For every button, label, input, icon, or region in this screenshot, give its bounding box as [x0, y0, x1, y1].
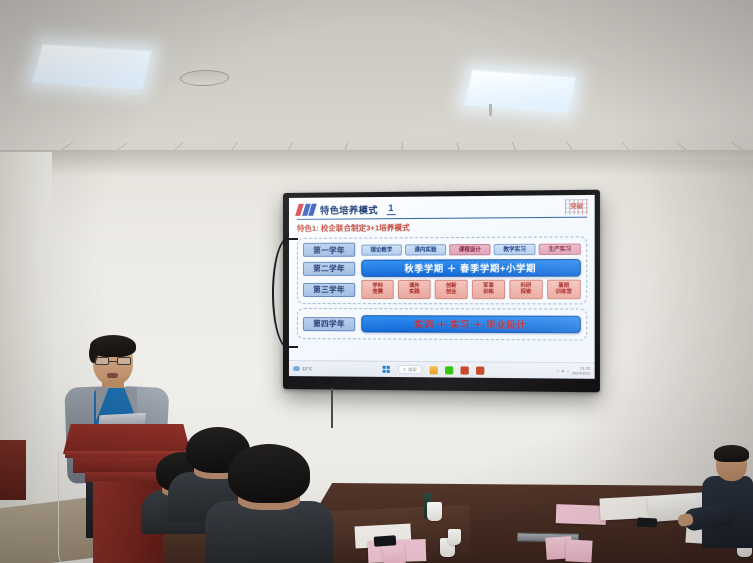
corner-watermark: 突破	[564, 197, 589, 217]
presentation-slide: 特色培养模式 1 突破 特色1: 校企联合制定3+1培养模式 第一学年	[289, 195, 595, 362]
podium-cable	[58, 452, 72, 563]
tag-innovation-entrepreneurship[interactable]: 创新 创业	[435, 280, 468, 299]
corner-watermark-text: 突破	[570, 204, 583, 210]
taskbar-weather-widget[interactable]: 12°C	[293, 366, 312, 371]
taskbar-search-box[interactable]: ⚲ 搜索	[398, 365, 422, 374]
powerpoint-icon-2[interactable]	[476, 366, 484, 374]
row-year-2: 第二学年 秋季学期 ＋ 春季学期+小学期	[303, 259, 581, 277]
name-tent-card	[382, 545, 406, 563]
tag-production-practice[interactable]: 生产实习	[539, 243, 581, 255]
year-3-tags: 学科 竞赛 课外 实践 创新 创业	[361, 280, 581, 300]
year-label-1: 第一学年	[303, 243, 355, 257]
year-label-4: 第四学年	[303, 317, 355, 331]
conference-room-photo: 特色培养模式 1 突破 特色1: 校企联合制定3+1培养模式 第一学年	[0, 0, 753, 563]
windows-taskbar[interactable]: 12°C ⚲ 搜索	[289, 360, 595, 379]
wall-mounted-tv[interactable]: 特色培养模式 1 突破 特色1: 校企联合制定3+1培养模式 第一学年	[283, 190, 600, 393]
row-year-1: 第一学年 理论教学 课内实验 课程设计 教学实习 生产实习	[303, 241, 581, 256]
capstone-bar[interactable]: 实训 ＋ 实习 ＋ 毕业设计	[361, 315, 581, 333]
left-wall-column	[0, 152, 52, 563]
smartphone	[374, 535, 397, 547]
year-label-2: 第二学年	[303, 261, 355, 275]
seated-attendee-right	[700, 448, 753, 563]
tag-line-2: 训练营	[556, 289, 572, 295]
institution-logo-icon	[297, 204, 315, 216]
podium-top	[63, 424, 191, 454]
tag-military-training[interactable]: 军事 训练	[472, 280, 506, 299]
tag-line-2: 探索	[521, 289, 532, 295]
taskbar-clock[interactable]: 11:32 2024/3/21	[572, 366, 591, 376]
row-year-3: 第三学年 学科 竞赛 课外 实践	[303, 280, 581, 300]
years-1-3-group: 第一学年 理论教学 课内实验 课程设计 教学实习 生产实习 第二学年	[297, 236, 587, 304]
paper-cup	[427, 502, 442, 521]
smartphone	[637, 517, 657, 527]
year-4-group: 第四学年 实训 ＋ 实习 ＋ 毕业设计	[297, 308, 587, 341]
paper-cup	[448, 529, 461, 545]
ceiling-light-left	[32, 44, 153, 90]
paper-document	[556, 504, 607, 525]
year-4-content: 实训 ＋ 实习 ＋ 毕业设计	[361, 315, 581, 333]
weather-temperature: 12°C	[302, 366, 312, 371]
chevron-up-icon[interactable]: ^	[557, 368, 559, 373]
presenter-hair	[90, 335, 136, 357]
year-label-3: 第三学年	[303, 282, 355, 296]
slide-subtitle: 特色1: 校企联合制定3+1培养模式	[297, 221, 587, 234]
year-1-tags: 理论教学 课内实验 课程设计 教学实习 生产实习	[361, 243, 581, 255]
network-icon[interactable]: ●	[562, 368, 565, 373]
tag-extracurricular-practice[interactable]: 课外 实践	[398, 280, 431, 299]
year-2-content: 秋季学期 ＋ 春季学期+小学期	[361, 259, 581, 277]
tag-teaching-practice[interactable]: 教学实习	[494, 243, 535, 254]
tag-line-2: 竞赛	[372, 289, 383, 295]
tv-bezel: 特色培养模式 1 突破 特色1: 校企联合制定3+1培养模式 第一学年	[283, 190, 600, 393]
header-rule	[401, 207, 587, 210]
tag-research-exploration[interactable]: 科研 探索	[509, 280, 543, 300]
slide-page-number: 1	[386, 203, 395, 215]
tag-theory-teaching[interactable]: 理论教学	[361, 244, 401, 255]
ceiling-vent	[178, 70, 230, 86]
semesters-bar[interactable]: 秋季学期 ＋ 春季学期+小学期	[361, 259, 581, 277]
ceiling-light-right	[464, 69, 577, 112]
ceiling	[0, 0, 753, 170]
powerpoint-icon-1[interactable]	[460, 366, 468, 374]
audience-member	[228, 444, 310, 536]
tv-power-cable	[272, 238, 298, 348]
presenter-mouth	[107, 373, 118, 378]
search-placeholder: 搜索	[408, 366, 417, 372]
tag-course-design[interactable]: 课程设计	[449, 243, 490, 254]
tag-discipline-competition[interactable]: 学科 竞赛	[361, 280, 394, 299]
name-tent-card	[565, 539, 592, 562]
tag-line-2: 实践	[409, 289, 420, 295]
tv-screen[interactable]: 特色培养模式 1 突破 特色1: 校企联合制定3+1培养模式 第一学年	[289, 195, 595, 379]
wechat-icon[interactable]	[445, 366, 453, 374]
slide-header: 特色培养模式 1 突破	[297, 200, 587, 220]
file-explorer-icon[interactable]	[429, 366, 437, 374]
taskbar-center-group: ⚲ 搜索	[316, 364, 553, 375]
attendee-hair	[714, 445, 749, 462]
chair-back-left	[0, 440, 26, 500]
windows-start-icon[interactable]	[383, 365, 391, 373]
ceiling-hook	[489, 104, 492, 116]
search-icon: ⚲	[403, 367, 406, 372]
cloud-icon	[293, 366, 300, 371]
clock-date: 2024/3/21	[572, 371, 591, 376]
tag-summer-camp[interactable]: 暑期 训练营	[547, 280, 581, 300]
eyeglasses-icon	[95, 357, 131, 365]
row-year-4: 第四学年 实训 ＋ 实习 ＋ 毕业设计	[303, 315, 581, 333]
volume-icon[interactable]: ♪	[567, 368, 569, 373]
slide-title: 特色培养模式	[320, 202, 378, 217]
taskbar-system-tray[interactable]: ^ ● ♪ 11:32 2024/3/21	[557, 366, 590, 376]
tv-floor-cable	[331, 388, 333, 428]
tag-in-class-experiment[interactable]: 课内实验	[405, 244, 446, 255]
tag-line-2: 训练	[483, 289, 494, 295]
tag-line-2: 创业	[446, 289, 457, 295]
